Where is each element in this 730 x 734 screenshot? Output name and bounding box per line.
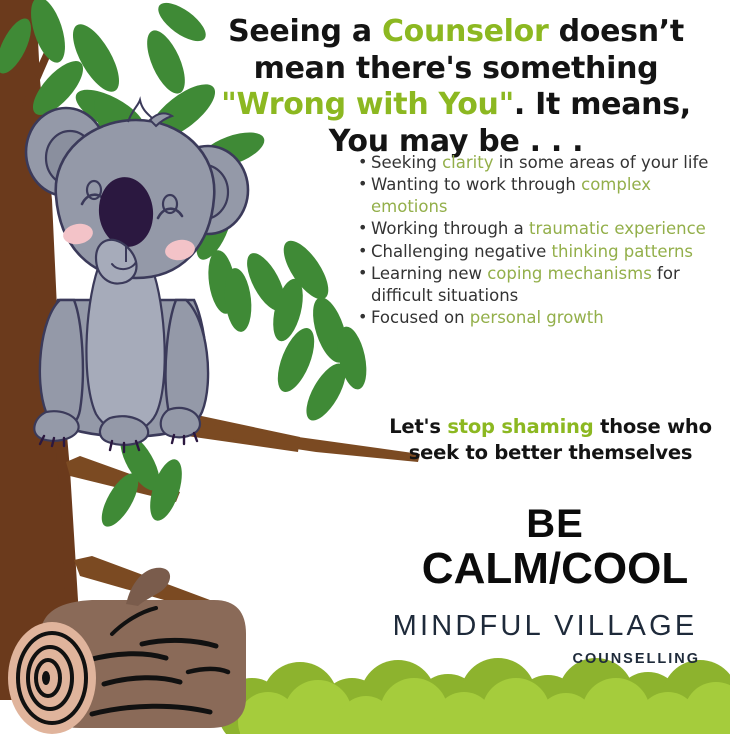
fallen-log-illustration xyxy=(8,568,246,734)
list-item-post: in some areas of your life xyxy=(493,153,708,172)
bullet-icon: • xyxy=(358,307,371,328)
bushes-illustration xyxy=(218,658,730,734)
list-item-pre: Focused on xyxy=(371,308,470,327)
list-item-pre: Challenging negative xyxy=(371,242,552,261)
bullet-icon: • xyxy=(358,263,371,284)
headline-line1-pre: Seeing a xyxy=(228,14,382,49)
list-item-highlight: thinking patterns xyxy=(552,242,694,261)
list-item-highlight: clarity xyxy=(442,153,493,172)
headline: Seeing a Counselor doesn’t mean there's … xyxy=(206,14,706,160)
brand-tagline-calmcool: CALM/COOL xyxy=(390,547,720,591)
brand-tagline-be: BE xyxy=(400,505,710,544)
headline-wrong-with-word: "Wrong with xyxy=(221,87,428,122)
bullet-icon: • xyxy=(358,241,371,262)
poster-canvas: Seeing a Counselor doesn’t mean there's … xyxy=(0,0,730,734)
list-item-text: Learning new coping mechanisms for diffi… xyxy=(371,263,730,306)
closing-statement: Let's stop shaming those who seek to bet… xyxy=(378,414,723,465)
list-item-highlight: coping mechanisms xyxy=(487,264,652,283)
bullet-icon: • xyxy=(358,218,371,239)
list-item-pre: Working through a xyxy=(371,219,529,238)
list-item-text: Challenging negative thinking patterns xyxy=(371,241,730,262)
list-item: • Seeking clarity in some areas of your … xyxy=(358,152,730,173)
list-item-pre: Seeking xyxy=(371,153,442,172)
list-item-pre: Wanting to work through xyxy=(371,175,581,194)
leaf-cluster-top xyxy=(0,0,212,143)
brand-name: MINDFUL VILLAGE xyxy=(370,612,720,641)
list-item-text: Working through a traumatic experience xyxy=(371,218,730,239)
leaf-cluster-branch xyxy=(222,234,372,426)
headline-line2-pre: there's something xyxy=(356,51,658,86)
list-item: • Focused on personal growth xyxy=(358,307,730,328)
list-item: • Challenging negative thinking patterns xyxy=(358,241,730,262)
leaf-cluster-lower xyxy=(95,428,189,532)
headline-you-word: You" xyxy=(439,87,514,122)
list-item: • Learning new coping mechanisms for dif… xyxy=(358,263,730,306)
brand-subtitle: COUNSELLING xyxy=(370,652,700,667)
list-item-highlight: personal growth xyxy=(470,308,604,327)
headline-counselor-word: Counselor xyxy=(382,14,549,49)
list-item-text: Seeking clarity in some areas of your li… xyxy=(371,152,730,173)
list-item-highlight: traumatic experience xyxy=(529,219,706,238)
list-item-text: Focused on personal growth xyxy=(371,307,730,328)
closing-pre: Let's xyxy=(389,415,447,438)
list-item-pre: Learning new xyxy=(371,264,487,283)
closing-highlight: stop shaming xyxy=(447,415,593,438)
benefits-list: • Seeking clarity in some areas of your … xyxy=(358,152,730,330)
bullet-icon: • xyxy=(358,152,371,173)
bullet-icon: • xyxy=(358,174,371,195)
list-item: • Working through a traumatic experience xyxy=(358,218,730,239)
list-item: • Wanting to work through complex emotio… xyxy=(358,174,730,217)
list-item-text: Wanting to work through complex emotions xyxy=(371,174,730,217)
